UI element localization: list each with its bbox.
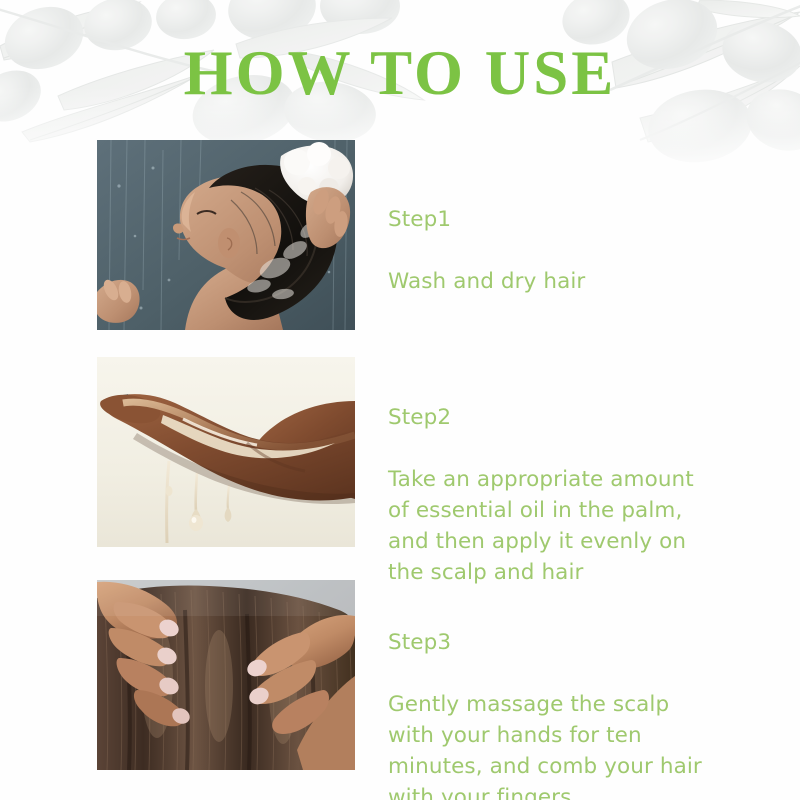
hands-in-hair-image: [97, 580, 355, 770]
page-title: HOW TO USE: [0, 38, 800, 108]
step-2-body: Take an appropriate amount of essential …: [388, 464, 758, 588]
step-3-body: Gently massage the scalp with your hands…: [388, 689, 758, 800]
step-1-text: Step1 Wash and dry hair: [388, 173, 758, 328]
shower-hair-wash-image: [97, 140, 355, 330]
infographic-page: HOW TO USE: [0, 0, 800, 800]
step-1-label: Step1: [388, 204, 758, 235]
step-3-label: Step3: [388, 627, 758, 658]
oil-in-palm-image: [97, 357, 355, 547]
step-2-text: Step2 Take an appropriate amount of esse…: [388, 371, 758, 619]
step-2-photo: [97, 357, 355, 547]
step-3-text: Step3 Gently massage the scalp with your…: [388, 596, 758, 800]
step-2-label: Step2: [388, 402, 758, 433]
step-3-photo: [97, 580, 355, 770]
step-1-photo: [97, 140, 355, 330]
step-1-body: Wash and dry hair: [388, 266, 758, 297]
